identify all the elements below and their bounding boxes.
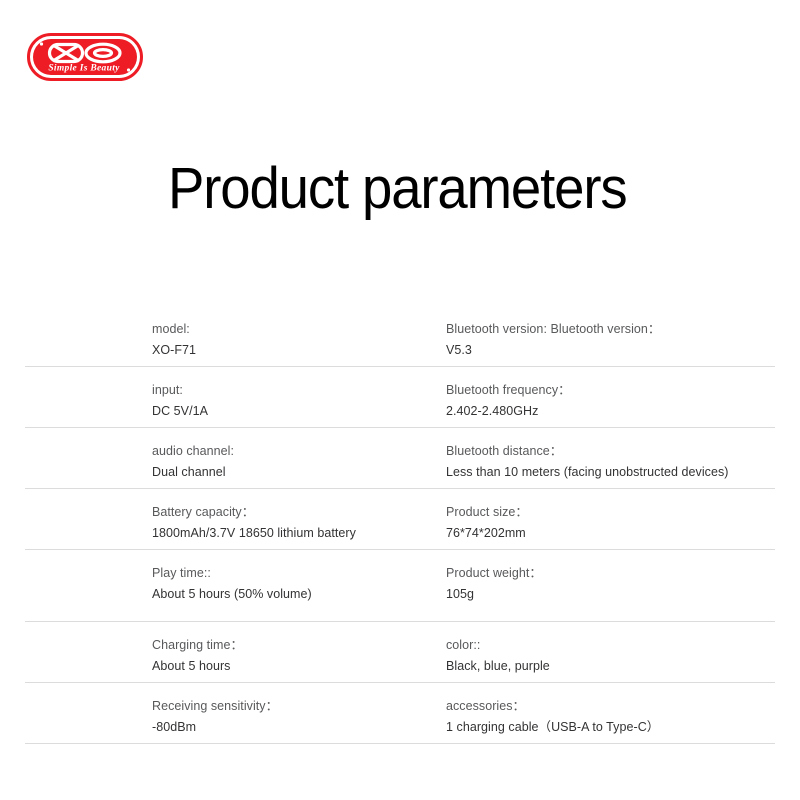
spec-cell-battery-capacity: Battery capacity： 1800mAh/3.7V 18650 lit… [152, 502, 442, 544]
spec-cell-input: input: DC 5V/1A [152, 380, 442, 422]
spec-label: accessories： [446, 696, 776, 717]
spec-value: Dual channel [152, 462, 442, 483]
spec-label: Play time:: [152, 563, 442, 584]
spec-label: Product size： [446, 502, 776, 523]
spec-label: Bluetooth version: Bluetooth version： [446, 319, 776, 340]
spec-cell-play-time: Play time:: About 5 hours (50% volume) [152, 563, 442, 605]
spec-value: Black, blue, purple [446, 656, 776, 677]
spec-label: Receiving sensitivity： [152, 696, 442, 717]
spec-value: About 5 hours [152, 656, 442, 677]
spec-value: 1800mAh/3.7V 18650 lithium battery [152, 523, 442, 544]
spec-label: model: [152, 319, 442, 340]
logo-dot-right [127, 68, 130, 71]
logo-dot-left [40, 42, 43, 45]
page-title: Product parameters [168, 154, 626, 224]
table-row: input: DC 5V/1A Bluetooth frequency： 2.4… [0, 367, 800, 428]
spec-cell-audio-channel: audio channel: Dual channel [152, 441, 442, 483]
spec-value: 76*74*202mm [446, 523, 776, 544]
table-row: model: XO-F71 Bluetooth version: Bluetoo… [0, 306, 800, 367]
xo-logo: Simple Is Beauty [27, 33, 143, 81]
spec-value: V5.3 [446, 340, 776, 361]
spec-value: Less than 10 meters (facing unobstructed… [446, 462, 776, 483]
spec-label: Charging time： [152, 635, 442, 656]
spec-cell-color: color:: Black, blue, purple [446, 635, 776, 677]
spec-value: About 5 hours (50% volume) [152, 584, 442, 605]
spec-label: Battery capacity： [152, 502, 442, 523]
table-row: Battery capacity： 1800mAh/3.7V 18650 lit… [0, 489, 800, 550]
spec-value: -80dBm [152, 717, 442, 738]
table-row: Receiving sensitivity： -80dBm accessorie… [0, 683, 800, 744]
spec-value: 2.402-2.480GHz [446, 401, 776, 422]
spec-cell-product-size: Product size： 76*74*202mm [446, 502, 776, 544]
spec-cell-charging-time: Charging time： About 5 hours [152, 635, 442, 677]
product-parameters-table: model: XO-F71 Bluetooth version: Bluetoo… [0, 306, 800, 744]
spec-value: 105g [446, 584, 776, 605]
spec-label: color:: [446, 635, 776, 656]
spec-label: audio channel: [152, 441, 442, 462]
spec-value: DC 5V/1A [152, 401, 442, 422]
spec-label: input: [152, 380, 442, 401]
spec-cell-bluetooth-distance: Bluetooth distance： Less than 10 meters … [446, 441, 776, 483]
table-row: Charging time： About 5 hours color:: Bla… [0, 622, 800, 683]
spec-cell-accessories: accessories： 1 charging cable（USB-A to T… [446, 696, 776, 738]
table-row: audio channel: Dual channel Bluetooth di… [0, 428, 800, 489]
spec-label: Bluetooth distance： [446, 441, 776, 462]
spec-cell-bluetooth-version: Bluetooth version: Bluetooth version： V5… [446, 319, 776, 361]
spec-cell-product-weight: Product weight： 105g [446, 563, 776, 605]
row-divider [25, 743, 775, 744]
logo-tagline: Simple Is Beauty [48, 64, 120, 74]
spec-value: 1 charging cable（USB-A to Type-C） [446, 717, 776, 738]
spec-label: Bluetooth frequency： [446, 380, 776, 401]
table-row: Play time:: About 5 hours (50% volume) P… [0, 550, 800, 622]
spec-cell-model: model: XO-F71 [152, 319, 442, 361]
spec-value: XO-F71 [152, 340, 442, 361]
spec-cell-bluetooth-frequency: Bluetooth frequency： 2.402-2.480GHz [446, 380, 776, 422]
spec-cell-receiving-sensitivity: Receiving sensitivity： -80dBm [152, 696, 442, 738]
spec-label: Product weight： [446, 563, 776, 584]
